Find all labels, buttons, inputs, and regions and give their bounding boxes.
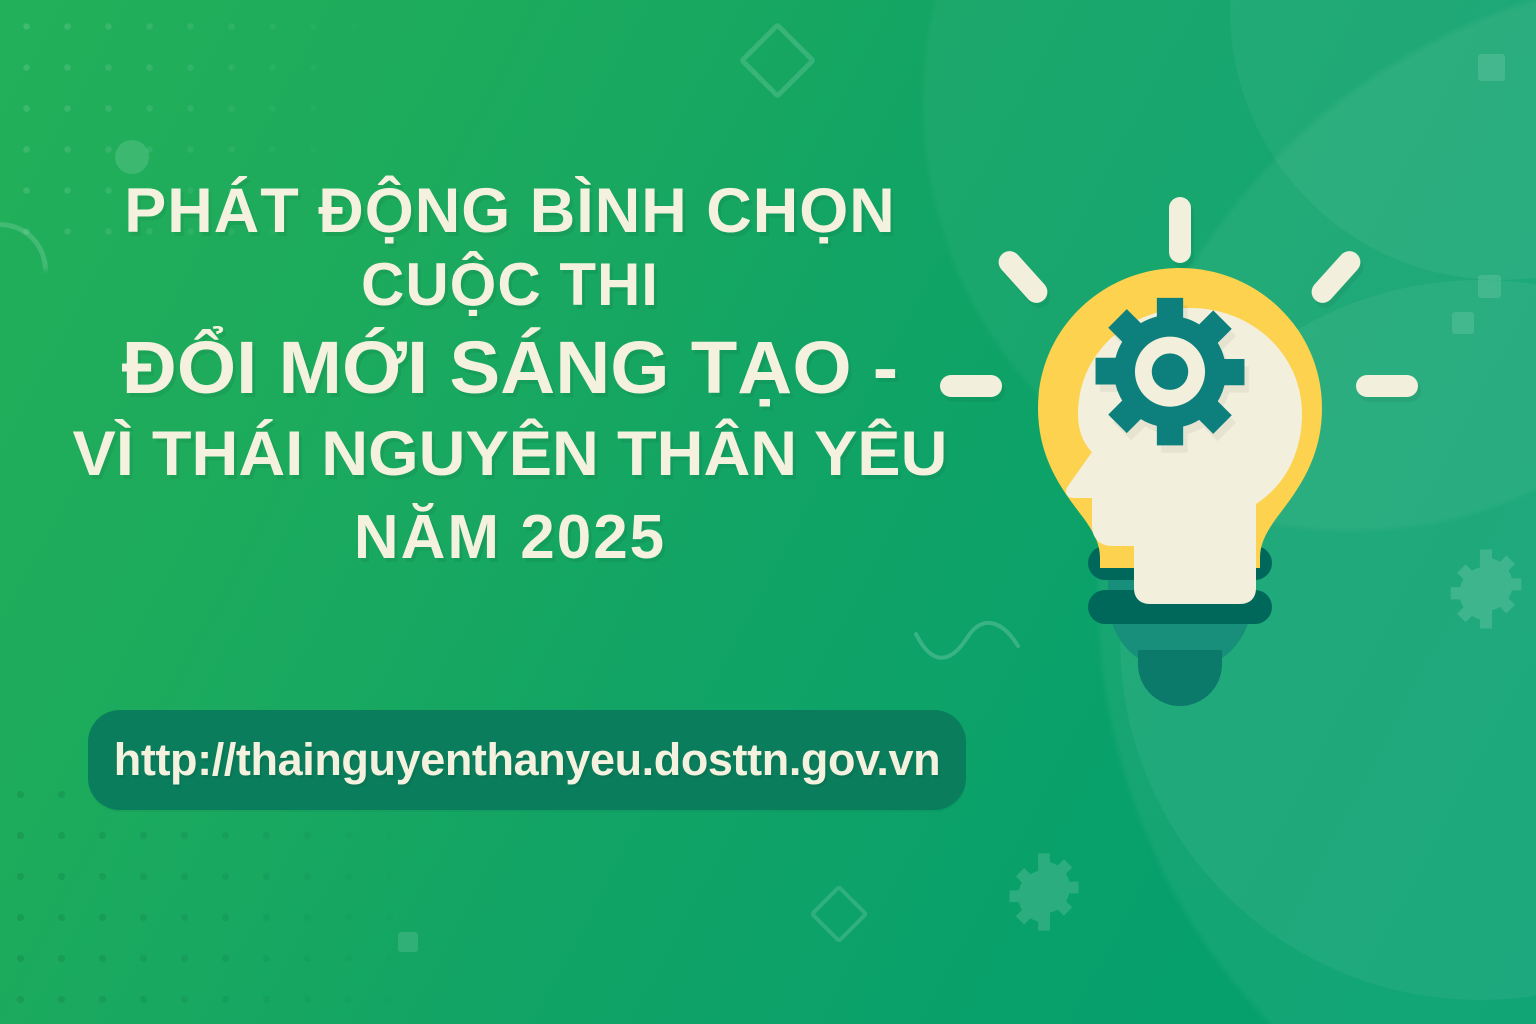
mini-square-top-right (1478, 54, 1505, 81)
lightbulb-illustration (960, 180, 1460, 780)
mini-square-right-upper (1478, 275, 1501, 298)
headline-line-5: NĂM 2025 (60, 494, 960, 582)
headline-line-2: CUỘC THI (60, 247, 960, 324)
base-tip (1138, 650, 1222, 706)
lightbulb-svg (960, 180, 1460, 780)
ray-top (1169, 197, 1191, 263)
mini-square-left-lower (398, 932, 418, 952)
headline-line-3: ĐỔI MỚI SÁNG TẠO - (47, 323, 974, 413)
url-text: http://thainguyenthanyeu.dosttn.gov.vn (114, 734, 940, 786)
gear-icon-background-bottom (1002, 850, 1086, 934)
arc-outline-left (0, 222, 48, 318)
diamond-outline-top (739, 22, 817, 100)
ray-top-left (994, 247, 1052, 308)
circle-dot-left (115, 140, 149, 174)
ray-left (940, 375, 1002, 397)
url-banner[interactable]: http://thainguyenthanyeu.dosttn.gov.vn (88, 710, 966, 810)
gear-icon-brain (1096, 298, 1245, 445)
diamond-outline-bottom (809, 884, 868, 943)
ray-top-right (1307, 247, 1365, 308)
headline-line-4: VÌ THÁI NGUYÊN THÂN YÊU (47, 414, 974, 495)
ray-right (1356, 375, 1418, 397)
headline-line-1: PHÁT ĐỘNG BÌNH CHỌN (60, 176, 960, 247)
poster-canvas: PHÁT ĐỘNG BÌNH CHỌN CUỘC THI ĐỔI MỚI SÁN… (0, 0, 1536, 1024)
headline-block: PHÁT ĐỘNG BÌNH CHỌN CUỘC THI ĐỔI MỚI SÁN… (60, 176, 960, 582)
